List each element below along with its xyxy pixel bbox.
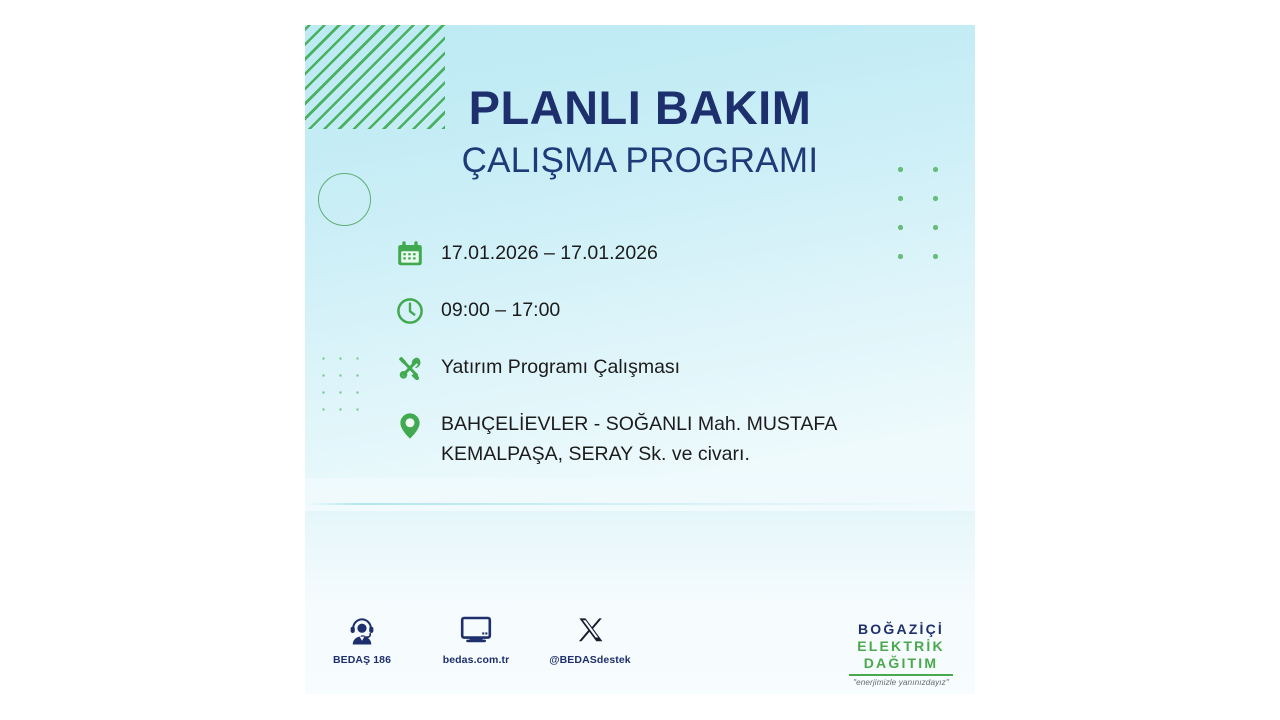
detail-list: 17.01.2026 – 17.01.2026 09:00 – 17:00: [393, 237, 933, 469]
logo-line-elektrik: ELEKTRİK: [845, 638, 957, 655]
logo-tagline: "enerjimizle yanınızdayız": [845, 678, 957, 687]
detail-row-date: 17.01.2026 – 17.01.2026: [393, 237, 933, 271]
clock-icon: [393, 294, 427, 328]
title-primary: PLANLI BAKIM: [305, 83, 975, 133]
dot-grid-left-decor: [315, 350, 373, 422]
contact-channels: BEDAŞ 186 bedas.com.tr: [323, 613, 629, 666]
contact-x-account[interactable]: @BEDASdestek: [551, 613, 629, 666]
panel-gradient-wash: [305, 511, 975, 606]
x-twitter-icon: [575, 613, 605, 647]
detail-time-text: 09:00 – 17:00: [441, 294, 560, 325]
detail-worktype-text: Yatırım Programı Çalışması: [441, 351, 680, 382]
logo-line-bogazici: BOĞAZİÇİ: [845, 621, 957, 638]
logo-line-dagitim: DAĞITIM: [845, 655, 957, 672]
screenshot-root: PLANLI BAKIM ÇALIŞMA PROGRAMI: [0, 0, 1280, 720]
detail-row-worktype: Yatırım Programı Çalışması: [393, 351, 933, 385]
maintenance-notice-card: PLANLI BAKIM ÇALIŞMA PROGRAMI: [305, 25, 975, 694]
bedas-logo: BOĞAZİÇİ ELEKTRİK DAĞITIM "enerjimizle y…: [845, 621, 957, 687]
title-secondary: ÇALIŞMA PROGRAMI: [305, 140, 975, 181]
tools-icon: [393, 351, 427, 385]
detail-location-text: BAHÇELİEVLER - SOĞANLI Mah. MUSTAFA KEMA…: [441, 408, 933, 469]
call-center-agent-icon: [346, 613, 378, 647]
panel-divider-line: [305, 503, 975, 505]
contact-phone[interactable]: BEDAŞ 186: [323, 613, 401, 666]
location-pin-icon: [393, 409, 427, 443]
page-title: PLANLI BAKIM ÇALIŞMA PROGRAMI: [305, 83, 975, 181]
detail-row-location: BAHÇELİEVLER - SOĞANLI Mah. MUSTAFA KEMA…: [393, 408, 933, 469]
calendar-icon: [393, 237, 427, 271]
logo-divider: [849, 674, 953, 675]
contact-website-label: bedas.com.tr: [443, 654, 510, 666]
contact-x-label: @BEDASdestek: [549, 654, 630, 666]
card-footer: BEDAŞ 186 bedas.com.tr: [305, 613, 975, 694]
detail-date-text: 17.01.2026 – 17.01.2026: [441, 237, 658, 268]
contact-website[interactable]: bedas.com.tr: [437, 613, 515, 666]
contact-phone-label: BEDAŞ 186: [333, 654, 391, 666]
monitor-icon: [459, 613, 493, 647]
detail-row-time: 09:00 – 17:00: [393, 294, 933, 328]
